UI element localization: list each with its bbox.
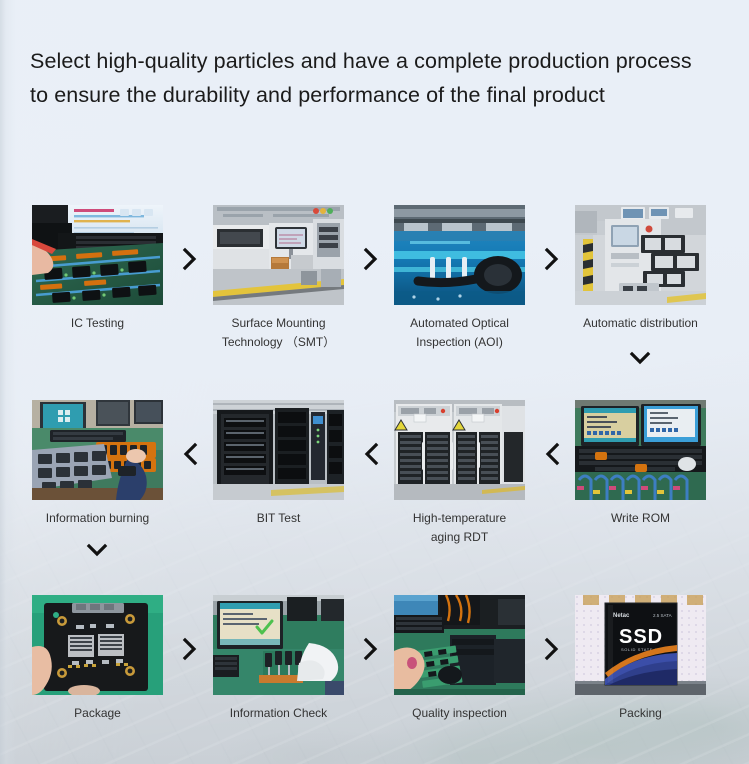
step-label: Package: [24, 704, 171, 723]
quality-inspection-photo: [394, 595, 525, 695]
arrow-right-icon: [541, 636, 563, 662]
package-photo: [32, 595, 163, 695]
packing-ssd-box-photo: Netac 2.5 SATA SSD SOLID STATE DRIVE: [575, 595, 706, 695]
write-rom-photo: [575, 400, 706, 500]
process-step-write-rom[interactable]: Write ROM: [575, 400, 706, 528]
step-label: Information burning: [24, 509, 171, 528]
arrow-right-icon: [179, 246, 201, 272]
step-label: Packing: [567, 704, 714, 723]
process-step-ic-testing[interactable]: IC Testing: [32, 205, 163, 333]
process-step-quality-inspection[interactable]: Quality inspection: [394, 595, 525, 723]
automatic-distribution-photo: [575, 205, 706, 305]
aging-rdt-photo: [394, 400, 525, 500]
step-label: High-temperature aging RDT: [386, 509, 533, 547]
step-label: Quality inspection: [386, 704, 533, 723]
step-label: Automated Optical Inspection (AOI): [386, 314, 533, 352]
svg-text:Netac: Netac: [613, 613, 630, 619]
step-label: Automatic distribution: [567, 314, 714, 333]
arrow-left-icon: [360, 441, 382, 467]
process-step-automatic-distribution[interactable]: Automatic distribution: [575, 205, 706, 333]
process-step-information-burning[interactable]: Information burning: [32, 400, 163, 528]
step-label: Write ROM: [567, 509, 714, 528]
step-label: Information Check: [205, 704, 352, 723]
svg-text:2.5 SATA: 2.5 SATA: [653, 613, 672, 618]
svg-text:SSD: SSD: [619, 626, 663, 648]
page-heading: Select high-quality particles and have a…: [30, 44, 702, 112]
arrow-right-icon: [179, 636, 201, 662]
bit-test-photo: [213, 400, 344, 500]
arrow-down-icon: [84, 541, 110, 561]
step-label: BIT Test: [205, 509, 352, 528]
arrow-down-icon: [627, 349, 653, 369]
arrow-right-icon: [541, 246, 563, 272]
arrow-right-icon: [360, 246, 382, 272]
process-step-aoi[interactable]: Automated Optical Inspection (AOI): [394, 205, 525, 352]
process-step-bit-test[interactable]: BIT Test: [213, 400, 344, 528]
aoi-machine-photo: [394, 205, 525, 305]
process-step-package[interactable]: Package: [32, 595, 163, 723]
step-label: Surface Mounting Technology （SMT）: [205, 314, 352, 352]
arrow-left-icon: [541, 441, 563, 467]
ic-testing-photo: [32, 205, 163, 305]
process-step-smt[interactable]: Surface Mounting Technology （SMT）: [213, 205, 344, 352]
process-step-aging-rdt[interactable]: High-temperature aging RDT: [394, 400, 525, 547]
process-step-information-check[interactable]: Information Check: [213, 595, 344, 723]
arrow-left-icon: [179, 441, 201, 467]
arrow-right-icon: [360, 636, 382, 662]
information-burning-photo: [32, 400, 163, 500]
information-check-photo: [213, 595, 344, 695]
process-step-packing[interactable]: Netac 2.5 SATA SSD SOLID STATE DRIVE Pac…: [575, 595, 706, 723]
step-label: IC Testing: [24, 314, 171, 333]
smt-machine-photo: [213, 205, 344, 305]
